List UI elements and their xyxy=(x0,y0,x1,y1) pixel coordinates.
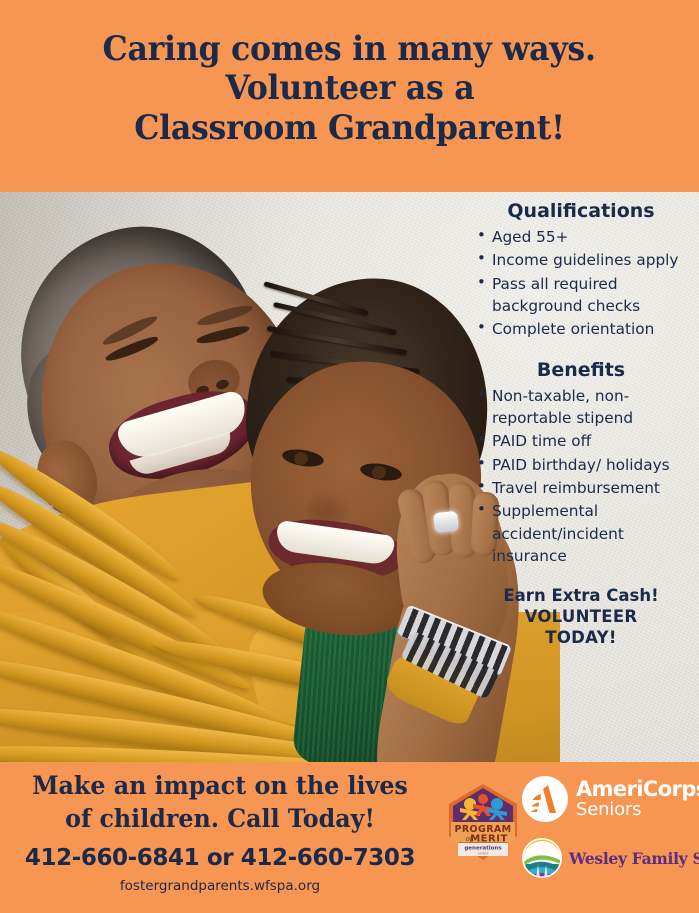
benefits-title: Benefits xyxy=(475,359,687,381)
benefits-list: Non-taxable, non-reportable stipend PAID… xyxy=(475,385,687,568)
wesley-family-services-logo: Wesley Family Services® xyxy=(522,838,699,878)
wesley-name-text: Wesley Family Services xyxy=(569,849,699,868)
americorps-a-icon xyxy=(528,782,562,816)
woman-ring xyxy=(433,511,459,533)
footer-headline-line-2: of children. Call Today! xyxy=(11,803,429,836)
svg-text:MERIT: MERIT xyxy=(470,834,508,845)
qualifications-title: Qualifications xyxy=(475,200,687,222)
americorps-mark-icon xyxy=(522,776,568,822)
americorps-subtitle: Seniors xyxy=(576,801,699,819)
wesley-name: Wesley Family Services® xyxy=(569,849,699,868)
list-item: Travel reimbursement xyxy=(475,477,687,499)
list-item: PAID time off xyxy=(475,430,687,452)
footer-banner: Make an impact on the lives of children.… xyxy=(0,762,699,913)
info-column: Qualifications Aged 55+ Income guideline… xyxy=(475,200,687,649)
flyer-page: Caring comes in many ways. Volunteer as … xyxy=(0,0,699,913)
child-iris-left xyxy=(294,452,308,465)
footer-contact-block: Make an impact on the lives of children.… xyxy=(0,770,440,894)
list-item: Income guidelines apply xyxy=(475,249,687,271)
website-url[interactable]: fostergrandparents.wfspa.org xyxy=(0,878,440,894)
list-item: Aged 55+ xyxy=(475,226,687,248)
program-of-merit-badge: PROGRAM of MERIT generations united xyxy=(446,782,520,862)
program-of-merit-icon: PROGRAM of MERIT generations united xyxy=(446,782,520,862)
call-to-action: Earn Extra Cash! VOLUNTEER TODAY! xyxy=(475,585,687,648)
phone-numbers[interactable]: 412-660-6841 or 412-660-7303 xyxy=(0,845,440,871)
list-item: Supplemental accident/incident insurance xyxy=(475,500,687,567)
qualifications-list: Aged 55+ Income guidelines apply Pass al… xyxy=(475,226,687,341)
list-item: PAID birthday/ holidays xyxy=(475,454,687,476)
svg-text:united: united xyxy=(478,852,489,856)
headline-line-1: Caring comes in many ways. xyxy=(103,30,596,69)
headline-line-3: Classroom Grandparent! xyxy=(134,109,565,148)
list-item: Non-taxable, non-reportable stipend xyxy=(475,385,687,430)
americorps-title: AmeriCorps xyxy=(576,779,699,800)
headline-line-2: Volunteer as a xyxy=(225,69,474,108)
cta-line-1: Earn Extra Cash! xyxy=(475,585,687,606)
list-item: Pass all required background checks xyxy=(475,273,687,318)
headline-banner: Caring comes in many ways. Volunteer as … xyxy=(0,0,699,192)
cta-line-3: TODAY! xyxy=(475,627,687,648)
americorps-text: AmeriCorps Seniors xyxy=(576,779,699,819)
logo-group: PROGRAM of MERIT generations united xyxy=(444,774,696,909)
americorps-seniors-logo: AmeriCorps Seniors xyxy=(522,776,699,822)
list-item: Complete orientation xyxy=(475,318,687,340)
wesley-rainbow-bridge-icon xyxy=(522,838,562,878)
footer-headline-line-1: Make an impact on the lives xyxy=(11,770,429,803)
child-iris-right xyxy=(372,466,386,479)
cta-line-2: VOLUNTEER xyxy=(475,606,687,627)
wesley-bridge-icon xyxy=(522,838,562,878)
